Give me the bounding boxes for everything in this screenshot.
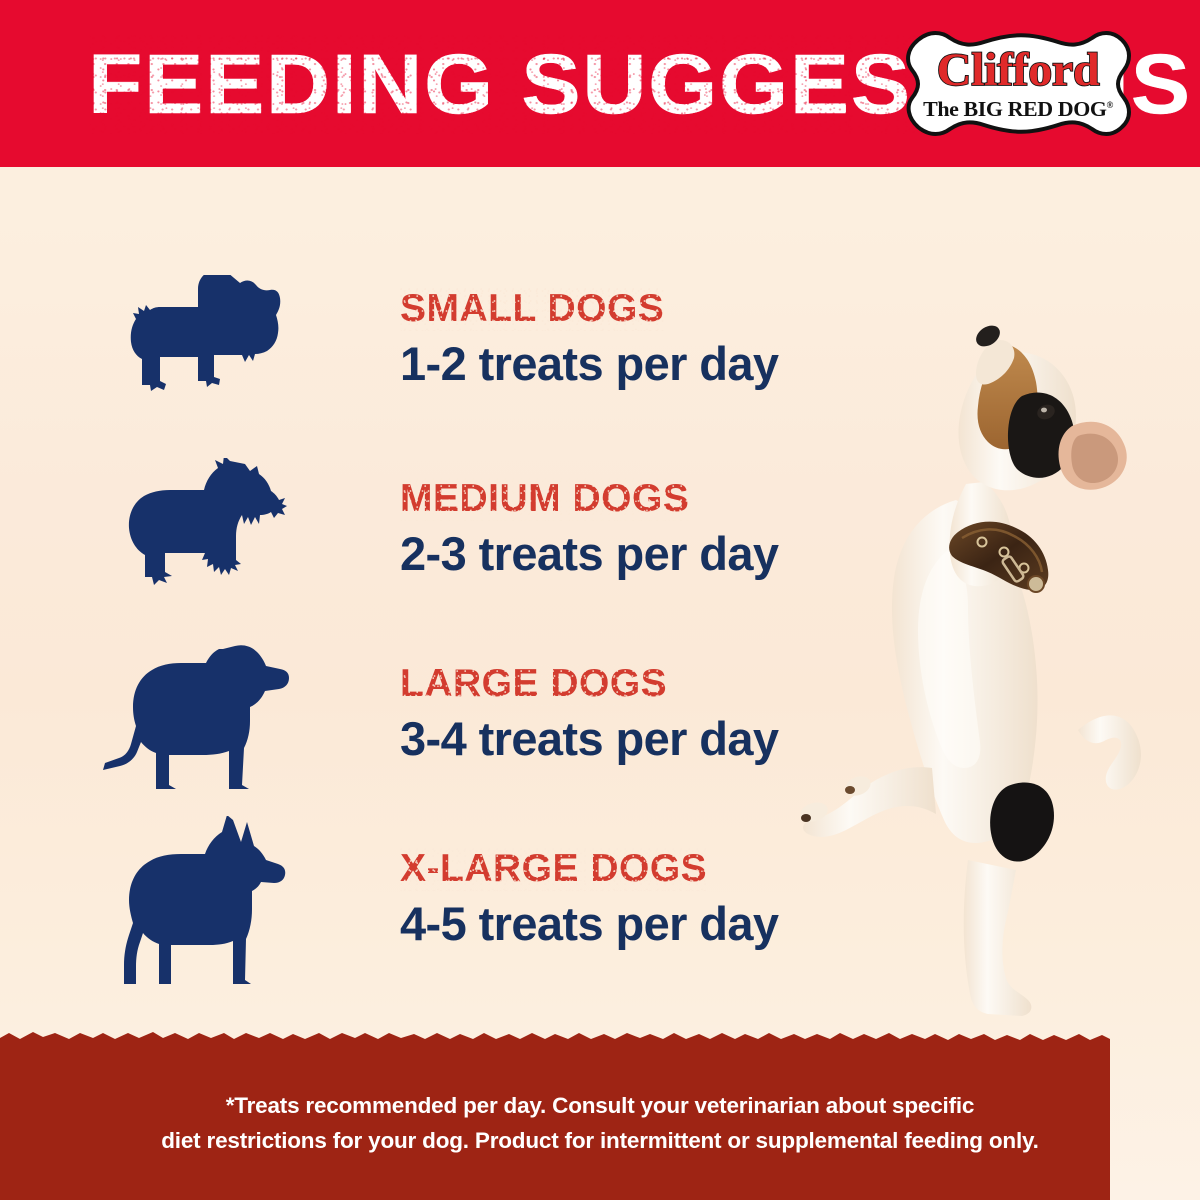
size-label-medium: MEDIUM DOGS xyxy=(400,477,689,521)
page-title: FEEDING SUGGESTIONS xyxy=(88,34,936,134)
size-label-xlarge: X-LARGE DOGS xyxy=(400,847,707,891)
logo-tagline-label: The BIG RED DOG xyxy=(923,97,1106,121)
disclaimer-line-2: diet restrictions for your dog. Product … xyxy=(150,1123,1050,1158)
size-label-large: LARGE DOGS xyxy=(400,662,667,706)
logo-tagline-text: The BIG RED DOG® xyxy=(923,94,1113,120)
dog-silhouette-great-dane-icon xyxy=(0,816,400,984)
trademark-symbol: ® xyxy=(1106,100,1112,110)
dog-silhouette-collie-icon xyxy=(0,458,400,603)
disclaimer-line-1: *Treats recommended per day. Consult you… xyxy=(150,1088,1050,1123)
size-label-small: SMALL DOGS xyxy=(400,287,664,331)
feeding-suggestions-poster: FEEDING SUGGESTIONS Clifford The BIG RED… xyxy=(0,0,1200,1200)
dog-silhouette-scottish-terrier-icon xyxy=(0,275,400,405)
disclaimer-text: *Treats recommended per day. Consult you… xyxy=(0,1088,1200,1158)
jack-russell-terrier-photo xyxy=(760,300,1200,1060)
clifford-logo: Clifford The BIG RED DOG® xyxy=(900,28,1136,139)
logo-brand-text: Clifford xyxy=(937,47,1100,93)
dog-silhouette-pitbull-icon xyxy=(0,640,400,790)
footer-band: *Treats recommended per day. Consult you… xyxy=(0,1030,1200,1200)
